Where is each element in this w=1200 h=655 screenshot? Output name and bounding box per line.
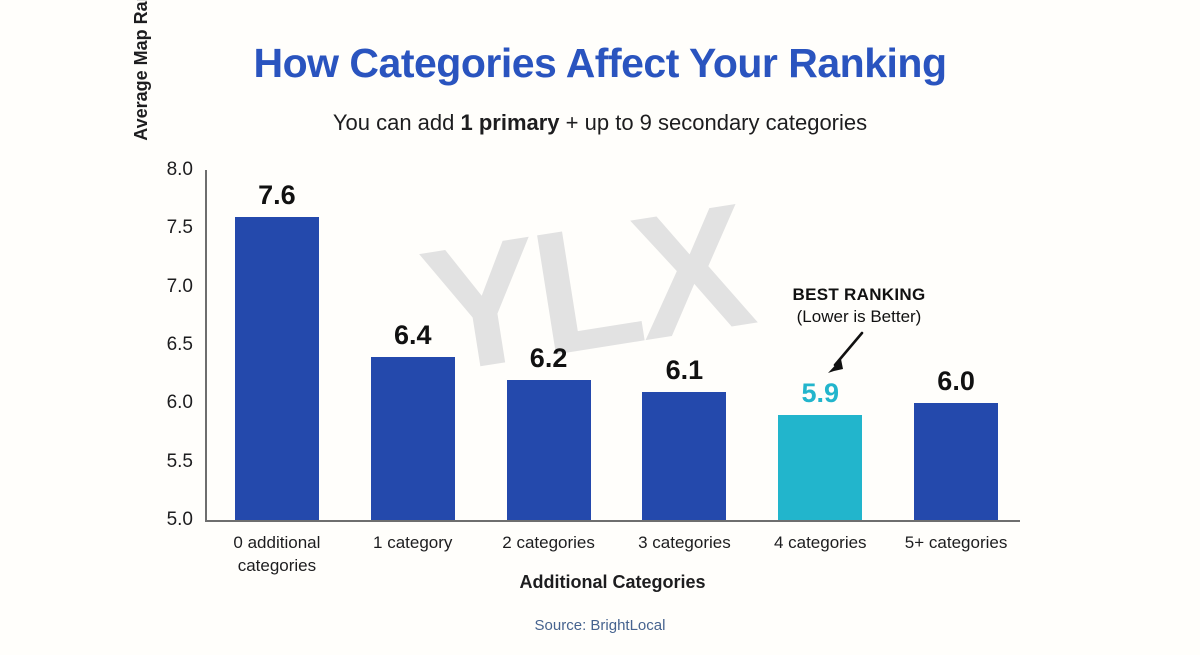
source-credit: Source: BrightLocal <box>0 617 1200 634</box>
annotation-title: BEST RANKING <box>744 284 974 306</box>
y-tick-label: 6.0 <box>167 392 193 414</box>
bar-value-label-0: 7.6 <box>258 180 296 211</box>
arrow-down-left-icon <box>815 325 875 385</box>
y-tick-label: 5.0 <box>167 509 193 531</box>
page-title: How Categories Affect Your Ranking <box>0 42 1200 85</box>
x-axis-line <box>205 520 1020 522</box>
y-tick-label: 5.5 <box>167 451 193 473</box>
bar-0[interactable]: 7.6 <box>235 217 319 520</box>
y-axis-line <box>205 170 207 520</box>
y-axis-label: Average Map Ranking <box>128 0 154 222</box>
y-tick-label: 6.5 <box>167 334 193 356</box>
bar-value-label-1: 6.4 <box>394 320 432 351</box>
subtitle-suffix: + up to 9 secondary categories <box>560 110 868 135</box>
y-tick-label: 7.5 <box>167 217 193 239</box>
subtitle-bold: 1 primary <box>460 110 559 135</box>
bar-value-label-3: 6.1 <box>666 355 704 386</box>
x-axis-label: Additional Categories <box>205 572 1020 593</box>
y-tick-label: 8.0 <box>167 159 193 181</box>
bar-value-label-5: 6.0 <box>937 366 975 397</box>
bar-2[interactable]: 6.2 <box>507 380 591 520</box>
bar-value-label-2: 6.2 <box>530 343 568 374</box>
bar-1[interactable]: 6.4 <box>371 357 455 520</box>
best-ranking-annotation: BEST RANKING (Lower is Better) <box>744 284 974 329</box>
y-tick-label: 7.0 <box>167 276 193 298</box>
subtitle-prefix: You can add <box>333 110 461 135</box>
infographic-root: How Categories Affect Your Ranking You c… <box>0 0 1200 655</box>
page-subtitle: You can add 1 primary + up to 9 secondar… <box>0 110 1200 136</box>
bar-4[interactable]: 5.9 <box>778 415 862 520</box>
bar-5[interactable]: 6.0 <box>914 403 998 520</box>
chart-plot-area: 5.05.56.06.57.07.58.0 7.66.46.26.15.96.0… <box>205 170 1020 520</box>
bar-3[interactable]: 6.1 <box>642 392 726 520</box>
x-tick-label-5: 5+ categories <box>876 532 1036 555</box>
